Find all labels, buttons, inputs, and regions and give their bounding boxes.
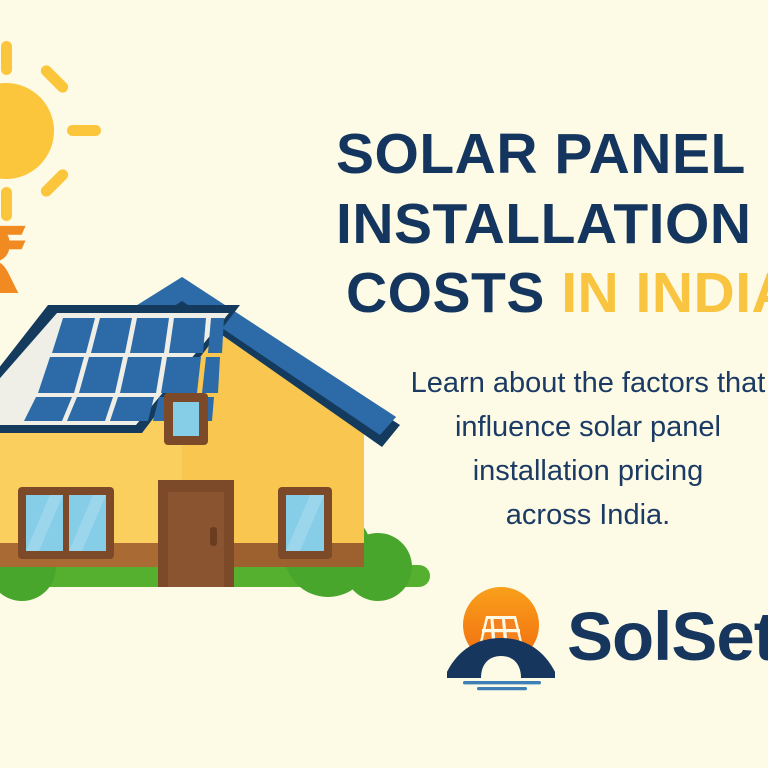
subtitle-line-2: influence solar panel bbox=[378, 405, 768, 449]
brand-name: SolSetu bbox=[567, 602, 768, 671]
headline-line-3: COSTS IN INDIA bbox=[336, 259, 768, 329]
headline-line-1: SOLAR PANEL bbox=[336, 120, 768, 190]
headline-line-3-main: COSTS bbox=[346, 261, 561, 325]
subtitle-line-4: across India. bbox=[378, 493, 768, 537]
page-title: SOLAR PANEL INSTALLATION COSTS IN INDIA bbox=[336, 120, 768, 329]
sun-ray-north bbox=[1, 41, 12, 75]
brand-logo: SolSetu bbox=[443, 578, 768, 694]
headline-line-3-accent: IN INDIA bbox=[561, 261, 768, 325]
subtitle-line-3: installation pricing bbox=[378, 449, 768, 493]
sun-solar-panel-bridge-logo-icon bbox=[443, 580, 561, 692]
sun-disc bbox=[0, 83, 54, 179]
sun-ray-southeast bbox=[39, 167, 71, 199]
sun-ray-east bbox=[67, 125, 101, 136]
subtitle-line-1: Learn about the factors that bbox=[378, 361, 768, 405]
sun-ray-northeast bbox=[39, 63, 71, 95]
page-subtitle: Learn about the factors that influence s… bbox=[378, 361, 768, 537]
poster-canvas: ₹ bbox=[0, 0, 768, 768]
headline-line-2: INSTALLATION bbox=[336, 190, 768, 260]
